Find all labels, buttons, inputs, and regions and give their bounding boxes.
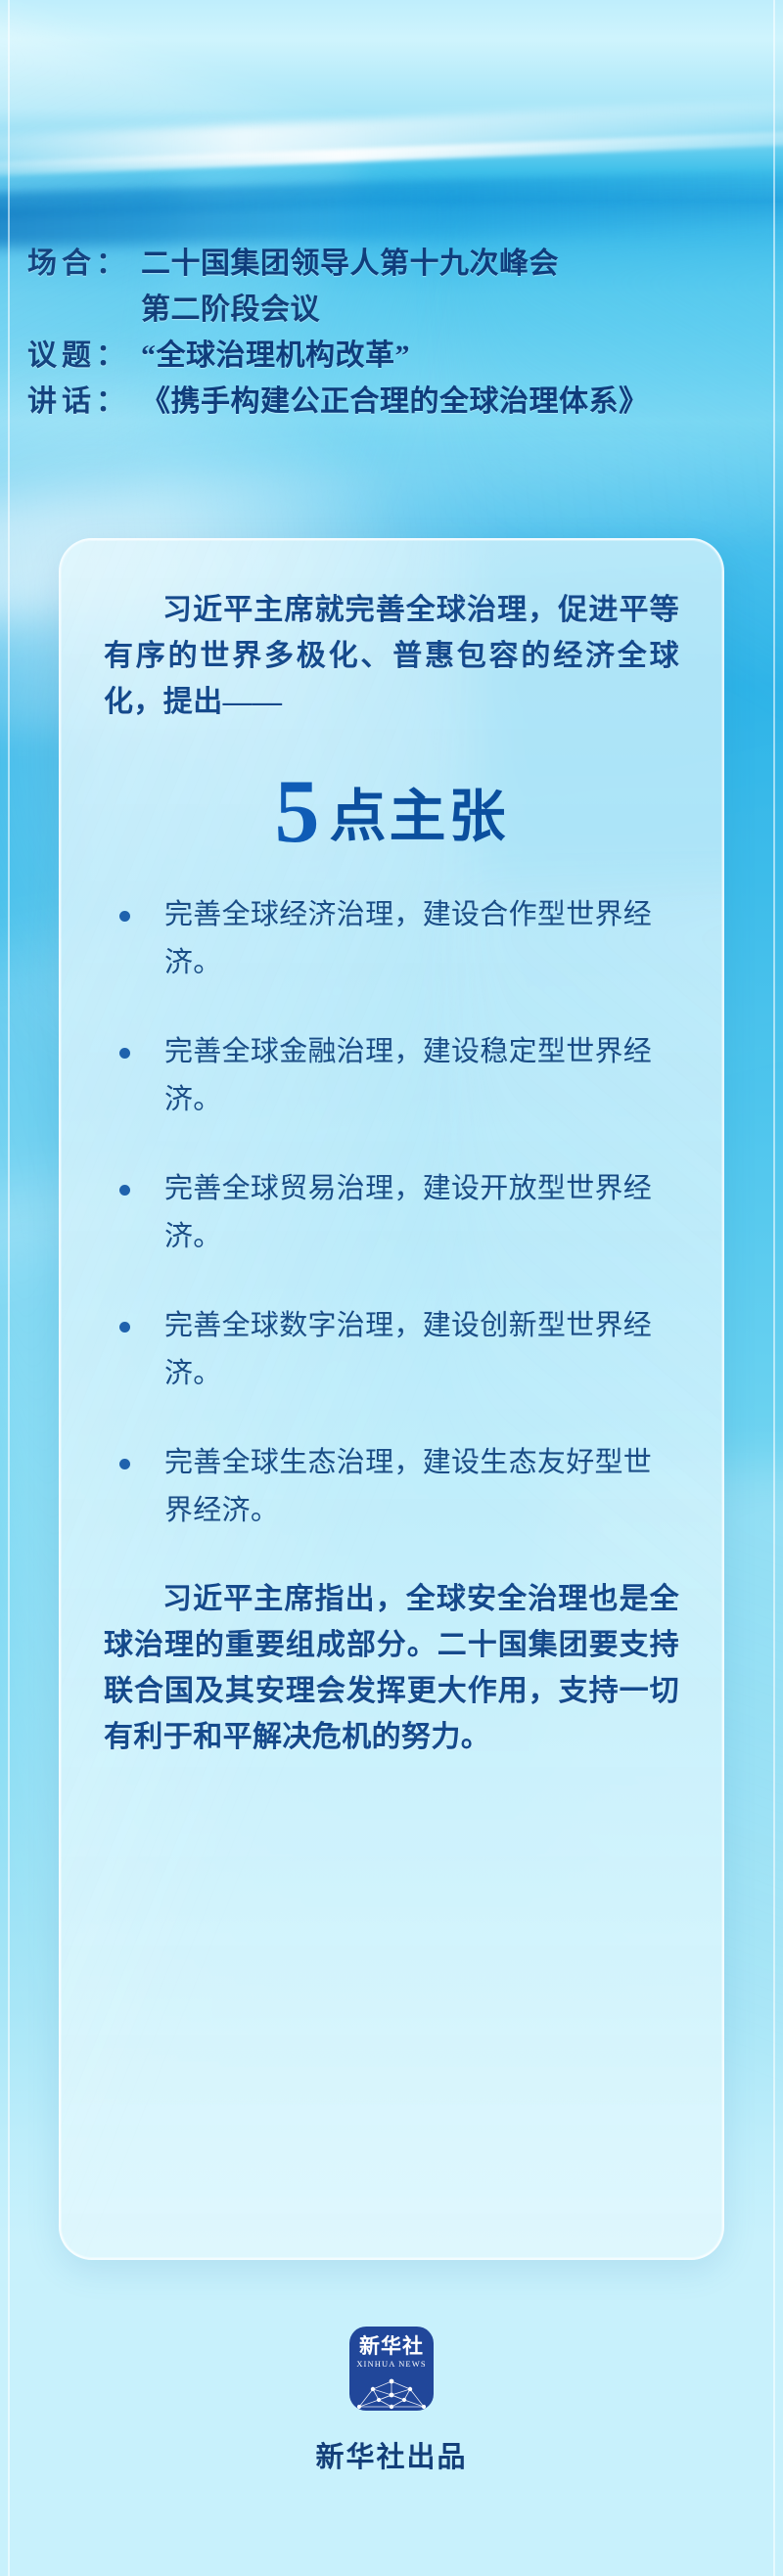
headline-word: 点主张 xyxy=(329,785,508,848)
meta-row-topic: 议题： “全球治理机构改革” xyxy=(27,333,761,379)
intro-paragraph: 习近平主席就完善全球治理，促进平等有序的世界多极化、普惠包容的经济全球化，提出—… xyxy=(104,587,679,725)
closing-paragraph: 习近平主席指出，全球安全治理也是全球治理的重要组成部分。二十国集团要支持联合国及… xyxy=(104,1576,679,1760)
meta-row-occasion: 场合： 二十国集团领导人第十九次峰会 xyxy=(27,241,761,287)
list-item: 完善全球生态治理，建设生态友好型世界经济。 xyxy=(104,1439,679,1535)
xinhua-news-logo: 新华社 XINHUA NEWS xyxy=(349,2327,434,2411)
list-item: 完善全球金融治理，建设稳定型世界经济。 xyxy=(104,1028,679,1124)
meta-row-speech: 讲话： 《携手构建公正合理的全球治理体系》 xyxy=(27,379,761,425)
content-card: 习近平主席就完善全球治理，促进平等有序的世界多极化、普惠包容的经济全球化，提出—… xyxy=(59,538,724,2260)
meta-label-topic: 议题： xyxy=(27,333,141,379)
network-globe-icon xyxy=(349,2368,434,2411)
poster-canvas: 场合： 二十国集团领导人第十九次峰会 第二阶段会议 议题： “全球治理机构改革”… xyxy=(0,0,783,2576)
meta-value-topic: “全球治理机构改革” xyxy=(141,333,761,379)
frame-border-right xyxy=(773,0,775,2576)
list-item: 完善全球数字治理，建设创新型世界经济。 xyxy=(104,1302,679,1398)
headline-number: 5 xyxy=(274,761,321,861)
meta-value-speech: 《携手构建公正合理的全球治理体系》 xyxy=(141,379,761,425)
proposals-list: 完善全球经济治理，建设合作型世界经济。 完善全球金融治理，建设稳定型世界经济。 … xyxy=(104,891,679,1535)
meta-continuation-occasion: 第二阶段会议 xyxy=(27,287,761,333)
footer: 新华社 XINHUA NEWS xyxy=(0,2327,783,2475)
headline-five-proposals: 5点主张 xyxy=(104,766,679,856)
meta-value-occasion: 二十国集团领导人第十九次峰会 xyxy=(141,241,761,287)
list-item: 完善全球经济治理，建设合作型世界经济。 xyxy=(104,891,679,987)
meta-label-speech: 讲话： xyxy=(27,379,141,425)
meta-label-occasion: 场合： xyxy=(27,241,141,287)
header-meta-block: 场合： 二十国集团领导人第十九次峰会 第二阶段会议 议题： “全球治理机构改革”… xyxy=(27,241,761,425)
list-item: 完善全球贸易治理，建设开放型世界经济。 xyxy=(104,1165,679,1261)
logo-name-cn: 新华社 xyxy=(349,2336,434,2357)
footer-caption: 新华社出品 xyxy=(0,2434,783,2475)
frame-border-left xyxy=(8,0,10,2576)
